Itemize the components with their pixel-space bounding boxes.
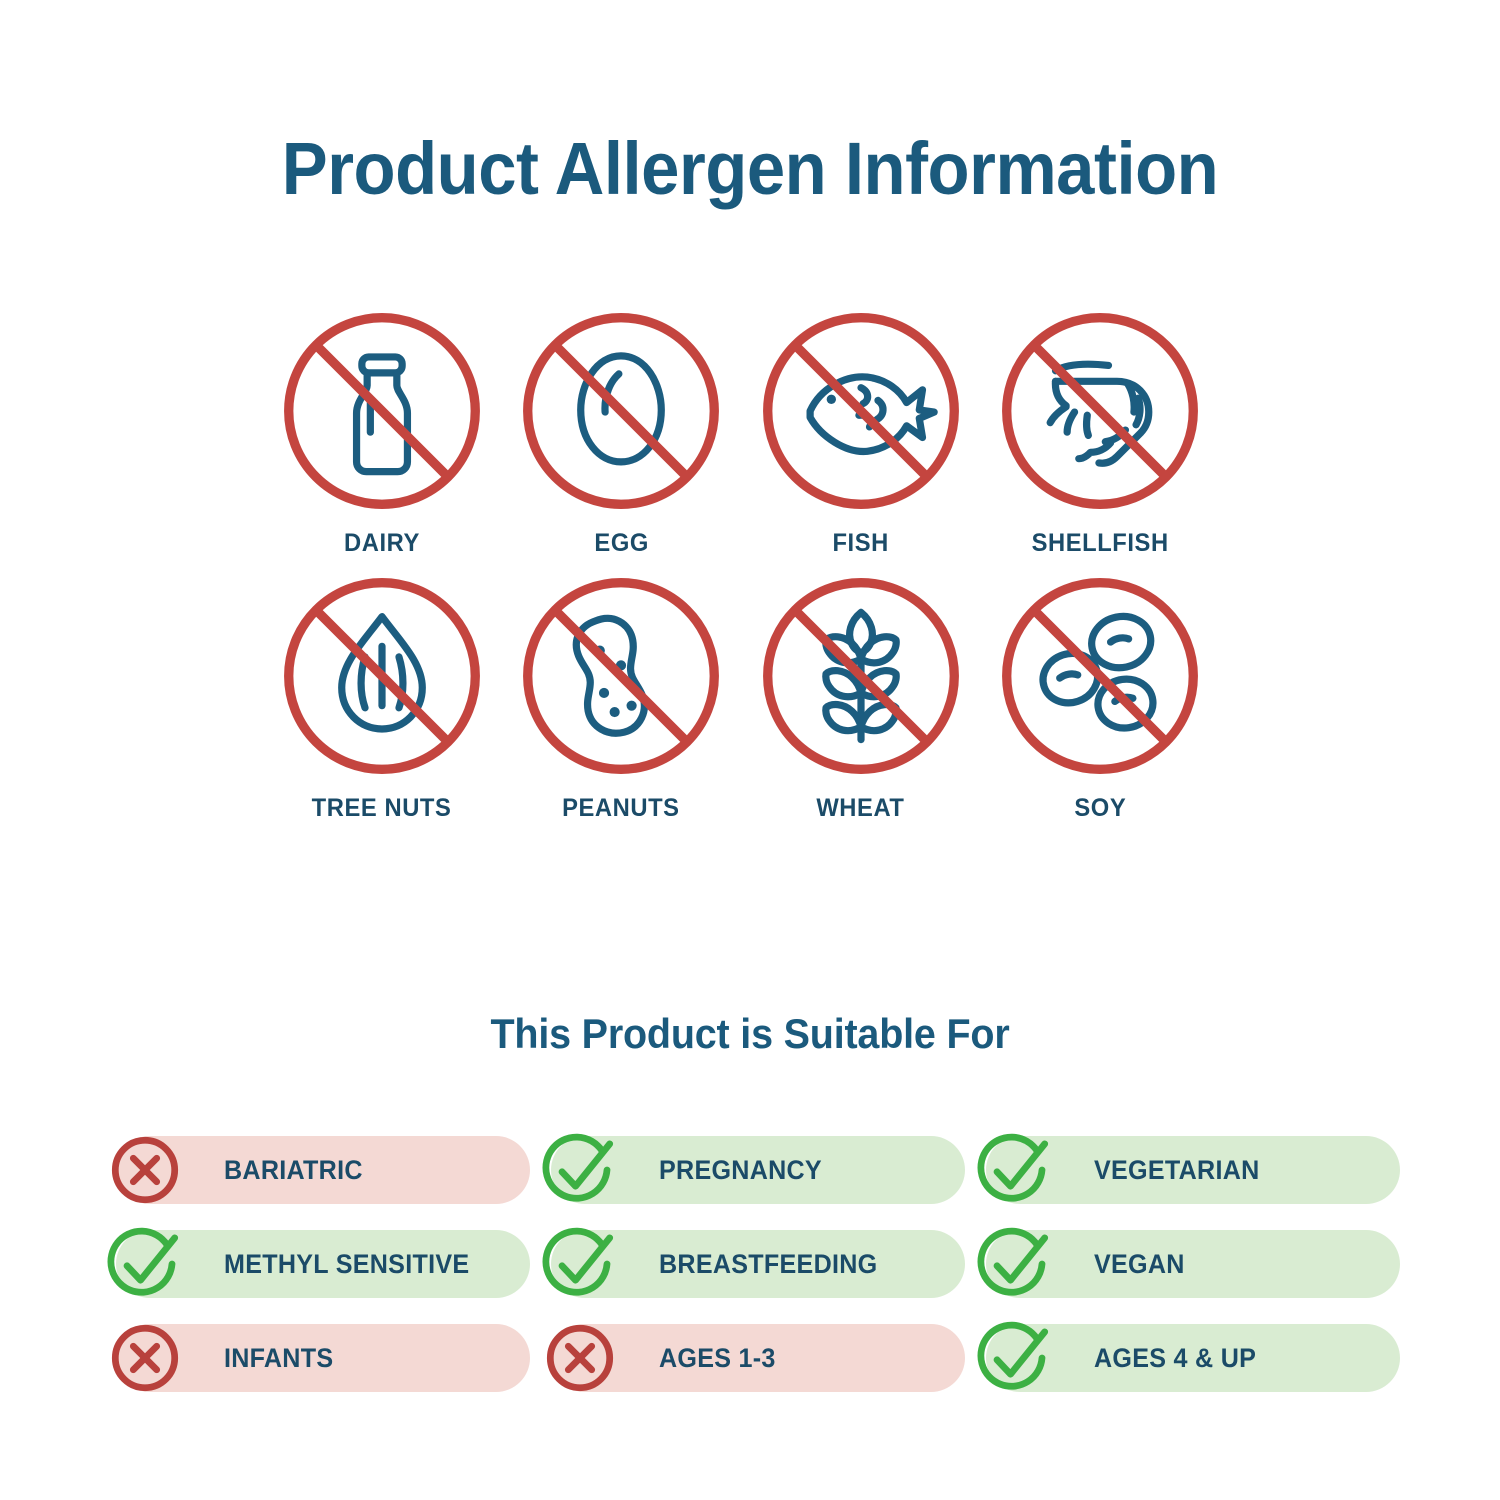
allergen-label: EGG xyxy=(594,529,649,558)
suitability-label: AGES 1-3 xyxy=(659,1343,776,1374)
peanut-icon xyxy=(515,570,727,782)
suitability-pill: PREGNANCY xyxy=(551,1136,965,1204)
allergen-label: TREE NUTS xyxy=(312,794,452,823)
suitability-item-vegan: VEGAN xyxy=(970,1222,1400,1316)
suitability-pill: METHYL SENSITIVE xyxy=(116,1230,530,1298)
suitability-pill: BARIATRIC xyxy=(116,1136,530,1204)
suitability-label: METHYL SENSITIVE xyxy=(224,1249,469,1280)
allergen-label: SOY xyxy=(1074,794,1126,823)
suitability-pill: INFANTS xyxy=(116,1324,530,1392)
suitability-grid: BARIATRIC PREGNANCY VEGETARIAN METHYL SE… xyxy=(100,1128,1400,1410)
suitability-label: INFANTS xyxy=(224,1343,333,1374)
allergen-item-soy: SOY xyxy=(981,570,1221,835)
suitability-pill: BREASTFEEDING xyxy=(551,1230,965,1298)
soybeans-icon xyxy=(994,570,1206,782)
allergen-item-fish: FISH xyxy=(741,305,981,570)
suitability-label: BREASTFEEDING xyxy=(659,1249,877,1280)
suitability-item-ages-1-3: AGES 1-3 xyxy=(535,1316,965,1410)
allergen-item-wheat: WHEAT xyxy=(741,570,981,835)
allergen-label: PEANUTS xyxy=(562,794,679,823)
suitability-pill: AGES 4 & UP xyxy=(986,1324,1400,1392)
allergen-icon-grid: DAIRY EGG FISH xyxy=(262,305,1220,835)
suitability-item-bariatric: BARIATRIC xyxy=(100,1128,530,1222)
suitability-pill: VEGETARIAN xyxy=(986,1136,1400,1204)
suitability-item-methyl-sensitive: METHYL SENSITIVE xyxy=(100,1222,530,1316)
suitability-label: VEGAN xyxy=(1094,1249,1185,1280)
suitability-item-infants: INFANTS xyxy=(100,1316,530,1410)
wheat-stalk-icon xyxy=(755,570,967,782)
suitability-heading: This Product is Suitable For xyxy=(45,1010,1455,1058)
suitability-item-pregnancy: PREGNANCY xyxy=(535,1128,965,1222)
milk-bottle-icon xyxy=(276,305,488,517)
suitability-item-breastfeeding: BREASTFEEDING xyxy=(535,1222,965,1316)
allergen-item-tree-nuts: TREE NUTS xyxy=(262,570,502,835)
suitability-pill: AGES 1-3 xyxy=(551,1324,965,1392)
page-title: Product Allergen Information xyxy=(53,126,1448,211)
suitability-item-ages-4-up: AGES 4 & UP xyxy=(970,1316,1400,1410)
suitability-label: BARIATRIC xyxy=(224,1155,363,1186)
allergen-label: FISH xyxy=(833,529,889,558)
allergen-item-shellfish: SHELLFISH xyxy=(981,305,1221,570)
allergen-item-egg: EGG xyxy=(502,305,742,570)
allergen-label: WHEAT xyxy=(817,794,905,823)
fish-icon xyxy=(755,305,967,517)
suitability-label: AGES 4 & UP xyxy=(1094,1343,1256,1374)
suitability-label: PREGNANCY xyxy=(659,1155,822,1186)
allergen-label: SHELLFISH xyxy=(1032,529,1169,558)
egg-icon xyxy=(515,305,727,517)
allergen-label: DAIRY xyxy=(344,529,420,558)
suitability-pill: VEGAN xyxy=(986,1230,1400,1298)
suitability-label: VEGETARIAN xyxy=(1094,1155,1260,1186)
allergen-info-page: Product Allergen Information DAIRY EGG xyxy=(0,0,1500,1500)
shrimp-icon xyxy=(994,305,1206,517)
almond-icon xyxy=(276,570,488,782)
suitability-item-vegetarian: VEGETARIAN xyxy=(970,1128,1400,1222)
allergen-item-dairy: DAIRY xyxy=(262,305,502,570)
allergen-item-peanuts: PEANUTS xyxy=(502,570,742,835)
